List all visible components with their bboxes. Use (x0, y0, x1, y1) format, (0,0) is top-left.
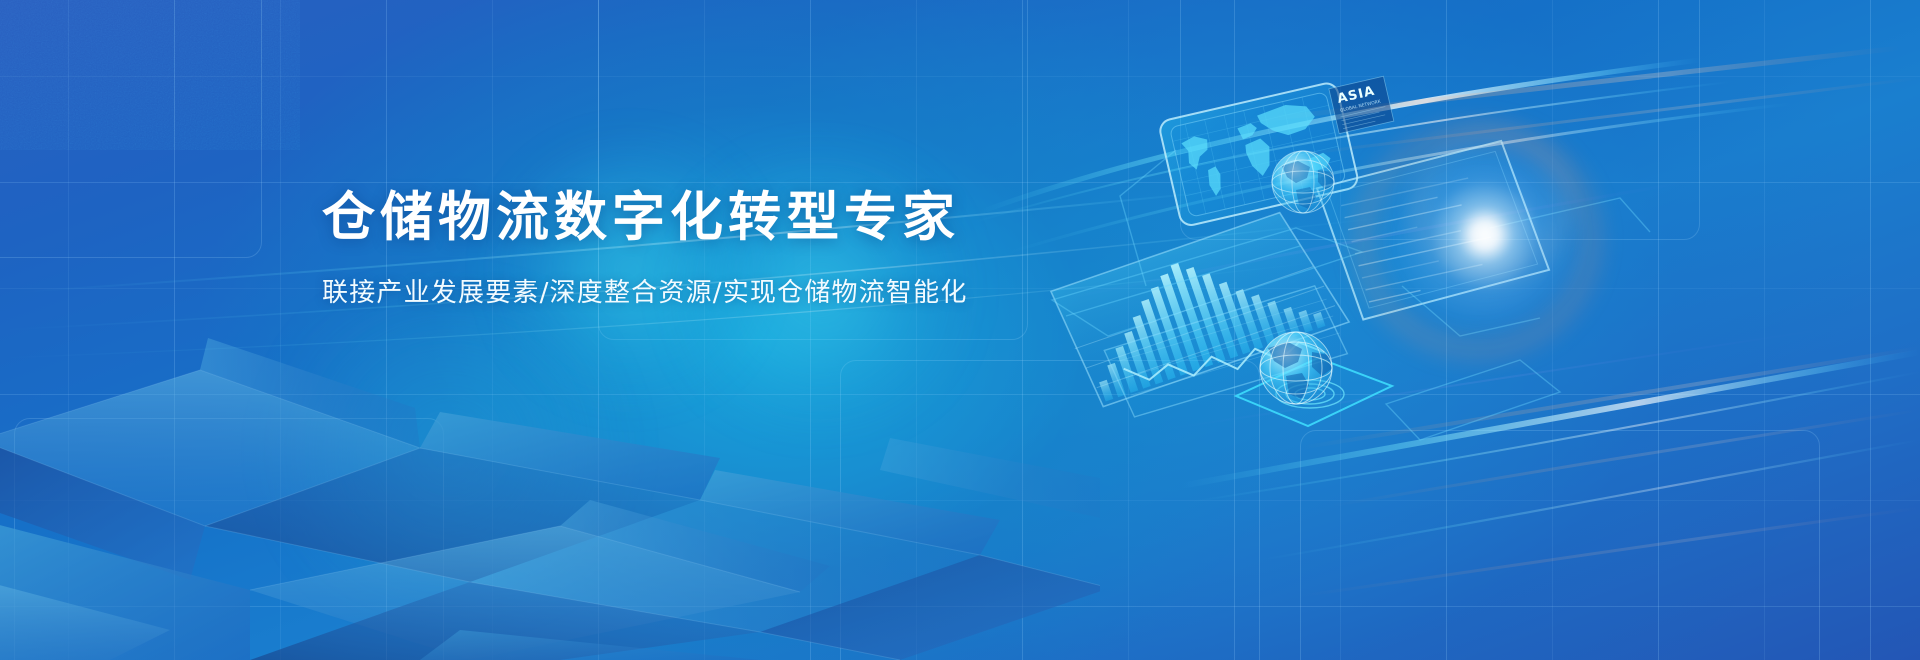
background-grid-minor (0, 0, 1920, 660)
bar-chart-panel (1051, 203, 1349, 411)
chart-bar (1251, 294, 1275, 345)
readout-text-line (1351, 227, 1417, 242)
lens-flare-ring-inner (1412, 128, 1572, 278)
background-rounded-frame (0, 0, 262, 258)
film-grain-overlay (0, 0, 300, 150)
chart-bar (1151, 286, 1188, 375)
readout-text-line (1344, 197, 1437, 217)
data-readout-panel (1315, 137, 1551, 323)
readout-text-line (1355, 231, 1461, 254)
chart-bar (1298, 310, 1312, 333)
chart-bar (1107, 363, 1126, 397)
faceted-polygon-floor (0, 330, 1100, 660)
hero-copy: 仓储物流数字化转型专家 联接产业发展要素/深度整合资源/实现仓储物流智能化 (322, 190, 1022, 309)
world-map-panel: ASIA GLOBAL NETWORK (1158, 70, 1406, 227)
hero-banner: ASIA GLOBAL NETWORK (0, 0, 1920, 660)
background-grid-major (0, 0, 1920, 660)
chart-bar (1313, 312, 1325, 328)
light-streaks (0, 48, 1920, 596)
chart-bar (1186, 267, 1226, 363)
wireframe-globe-upper (1272, 151, 1336, 213)
background-rounded-frame (1300, 430, 1820, 660)
asia-label: ASIA (1336, 84, 1377, 107)
chart-bar (1115, 346, 1138, 393)
asia-label-block: ASIA GLOBAL NETWORK (1329, 76, 1394, 133)
readout-text-line (1365, 264, 1482, 289)
chart-bar (1235, 289, 1263, 350)
hud-wireframes (1052, 150, 1650, 440)
page-title: 仓储物流数字化转型专家 (322, 190, 1022, 246)
chart-bar (1171, 263, 1214, 367)
readout-text-line (1362, 261, 1439, 278)
chart-bar (1267, 301, 1288, 342)
lens-flare-ring-outer (1352, 120, 1602, 360)
chart-bar (1099, 380, 1113, 402)
chart-bar (1160, 274, 1200, 372)
chart-bar (1283, 307, 1300, 337)
page-subtitle: 联接产业发展要素/深度整合资源/实现仓储物流智能化 (322, 272, 1022, 309)
cyan-glow-right (670, 165, 970, 415)
background-rounded-frame (1180, 0, 1700, 240)
lens-flare (1380, 135, 1590, 335)
chart-bar (1124, 331, 1151, 389)
chart-bar (1133, 315, 1164, 384)
readout-text-line (1358, 237, 1491, 266)
background-rounded-frame (598, 0, 1028, 340)
tech-hud-collage: ASIA GLOBAL NETWORK (0, 0, 1920, 660)
asia-sublabel: GLOBAL NETWORK (1339, 99, 1381, 114)
cyan-glow-wide (240, 300, 660, 600)
trend-line-panel (1102, 282, 1349, 420)
background-rounded-frame (14, 418, 444, 660)
readout-text-line (1369, 290, 1421, 302)
chart-bar (1219, 282, 1251, 354)
chart-bar (1141, 299, 1176, 380)
wireframe-globe-lower (1236, 332, 1392, 426)
chart-bar (1202, 273, 1238, 358)
continents (1178, 98, 1333, 201)
readout-text-line (1341, 178, 1468, 206)
readout-text-line (1348, 205, 1462, 230)
cyan-glow-left (500, 150, 760, 390)
background-rounded-frame (840, 360, 1260, 660)
